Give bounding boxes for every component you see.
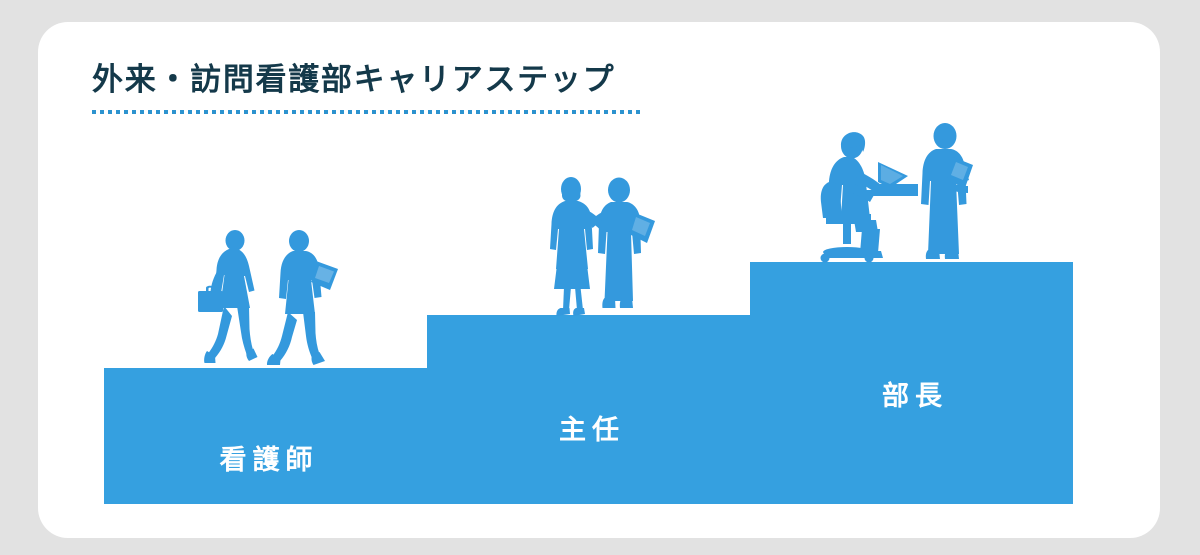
figure-group-level-3 <box>818 122 983 264</box>
step-label-level-3: 部長 <box>876 374 948 413</box>
seated-person-at-desk-with-laptop-icon <box>821 132 919 262</box>
step-block-level-1 <box>104 368 427 504</box>
step-label-level-1: 看護師 <box>214 438 319 477</box>
figure-group-level-1 <box>194 230 354 370</box>
standing-person-with-folder-icon <box>589 178 655 309</box>
content-card: 外来・訪問看護部キャリアステップ 看護師 主任 部長 <box>38 22 1160 538</box>
career-step-stage: 看護師 主任 部長 <box>38 22 1160 538</box>
infographic-root: 外来・訪問看護部キャリアステップ 看護師 主任 部長 <box>0 0 1200 555</box>
walking-woman-with-bag-icon <box>198 230 258 363</box>
figure-group-level-2 <box>543 177 663 317</box>
standing-person-holding-folder-icon <box>921 123 973 259</box>
standing-woman-icon <box>550 177 603 316</box>
walking-man-with-documents-icon <box>267 230 338 365</box>
step-label-level-2: 主任 <box>553 408 625 447</box>
